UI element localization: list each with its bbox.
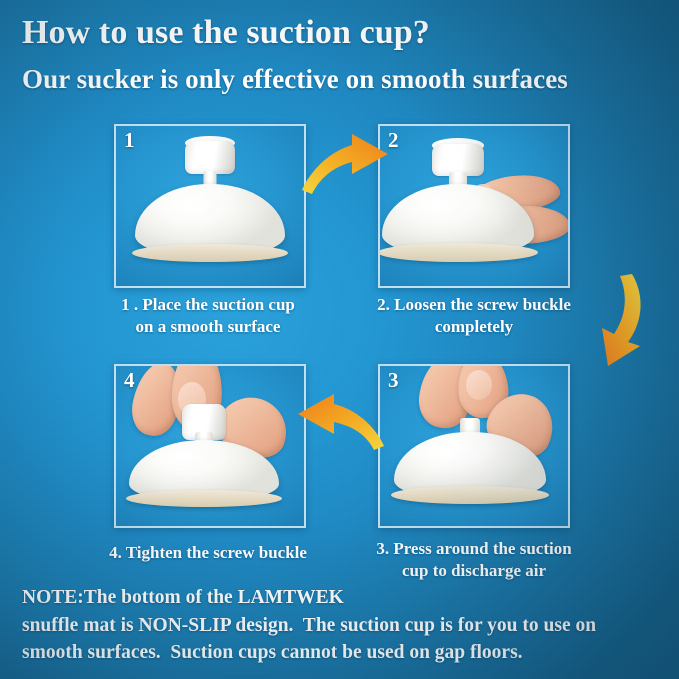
bottom-note: NOTE:The bottom of the LAMTWEK snuffle m… bbox=[22, 584, 662, 667]
step-number-2: 2 bbox=[388, 128, 399, 153]
step-caption-4: 4. Tighten the screw buckle bbox=[90, 542, 326, 564]
step-number-4: 4 bbox=[124, 368, 135, 393]
cup-highlight-4 bbox=[151, 448, 205, 468]
arrow-step3-to-step4-icon bbox=[294, 392, 386, 458]
suction-cup-illustration-3 bbox=[378, 366, 564, 526]
suction-cup-illustration-1 bbox=[116, 126, 304, 286]
step-caption-3-line2: cup to discharge air bbox=[356, 560, 592, 582]
cup-highlight-1 bbox=[159, 194, 217, 220]
bottom-note-line3: smooth surfaces. Suction cups cannot be … bbox=[22, 639, 662, 667]
step-caption-1-line2: on a smooth surface bbox=[90, 316, 326, 338]
page-subtitle: Our sucker is only effective on smooth s… bbox=[22, 64, 568, 95]
screw-knob-1 bbox=[185, 141, 235, 174]
cup-rim-2 bbox=[378, 243, 538, 262]
cup-rim-3 bbox=[391, 486, 549, 504]
step-number-3: 3 bbox=[388, 368, 399, 393]
page-title: How to use the suction cup? bbox=[22, 14, 430, 52]
step-caption-4-line1: 4. Tighten the screw buckle bbox=[90, 542, 326, 564]
cup-highlight-3 bbox=[418, 442, 472, 464]
step-panel-2: 2 bbox=[378, 124, 570, 288]
cup-rim-1 bbox=[132, 244, 288, 262]
step-caption-2-line1: 2. Loosen the screw buckle bbox=[356, 294, 592, 316]
step-caption-3-line1: 3. Press around the suction bbox=[356, 538, 592, 560]
arrow-step1-to-step2-icon bbox=[300, 128, 392, 200]
step-caption-3: 3. Press around the suction cup to disch… bbox=[356, 538, 592, 583]
suction-cup-illustration-4 bbox=[114, 366, 298, 526]
step-caption-1: 1 . Place the suction cup on a smooth su… bbox=[90, 294, 326, 339]
infographic-root: How to use the suction cup? Our sucker i… bbox=[0, 0, 679, 679]
step-caption-2: 2. Loosen the screw buckle completely bbox=[356, 294, 592, 339]
step-panel-3: 3 bbox=[378, 364, 570, 528]
cup-highlight-2 bbox=[408, 194, 464, 218]
step-panel-4: 4 bbox=[114, 364, 306, 528]
bottom-note-line2: snuffle mat is NON-SLIP design. The suct… bbox=[22, 612, 662, 640]
step-panel-1: 1 bbox=[114, 124, 306, 288]
bottom-note-line1: NOTE:The bottom of the LAMTWEK bbox=[22, 584, 662, 612]
arrow-step2-to-step3-icon bbox=[588, 272, 658, 368]
step-caption-2-line2: completely bbox=[356, 316, 592, 338]
cup-rim-4 bbox=[126, 490, 282, 507]
step-number-1: 1 bbox=[124, 128, 135, 153]
suction-cup-illustration-2 bbox=[378, 126, 552, 286]
step-caption-1-line1: 1 . Place the suction cup bbox=[90, 294, 326, 316]
